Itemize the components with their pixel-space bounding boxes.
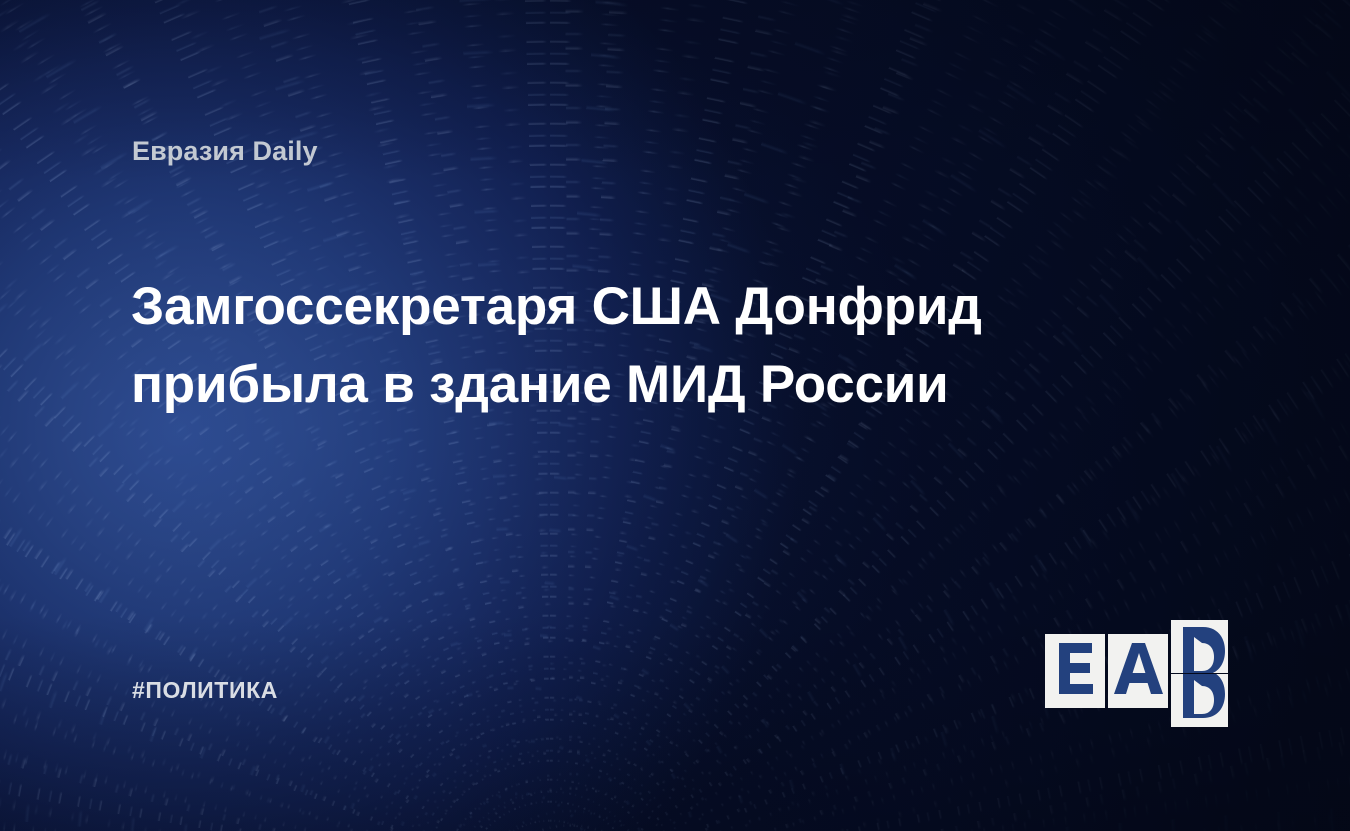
news-share-card: Евразия Daily Замгоссекретаря США Донфри… — [0, 0, 1350, 831]
eadaily-logo[interactable] — [1045, 620, 1225, 714]
brand-name: Евразия Daily — [132, 136, 318, 167]
headline-line-1: Замгоссекретаря США Донфрид — [131, 268, 1061, 346]
card-content: Евразия Daily Замгоссекретаря США Донфри… — [0, 0, 1350, 831]
category-hashtag[interactable]: #ПОЛИТИКА — [132, 677, 278, 704]
headline-line-2: прибыла в здание МИД России — [131, 346, 1061, 424]
page-title: Замгоссекретаря США Донфрид прибыла в зд… — [131, 268, 1061, 424]
logo-tile-d-bottom — [1171, 674, 1228, 727]
logo-tile-e — [1045, 634, 1105, 708]
logo-tile-a — [1108, 634, 1168, 708]
logo-tile-d-top — [1171, 620, 1228, 673]
